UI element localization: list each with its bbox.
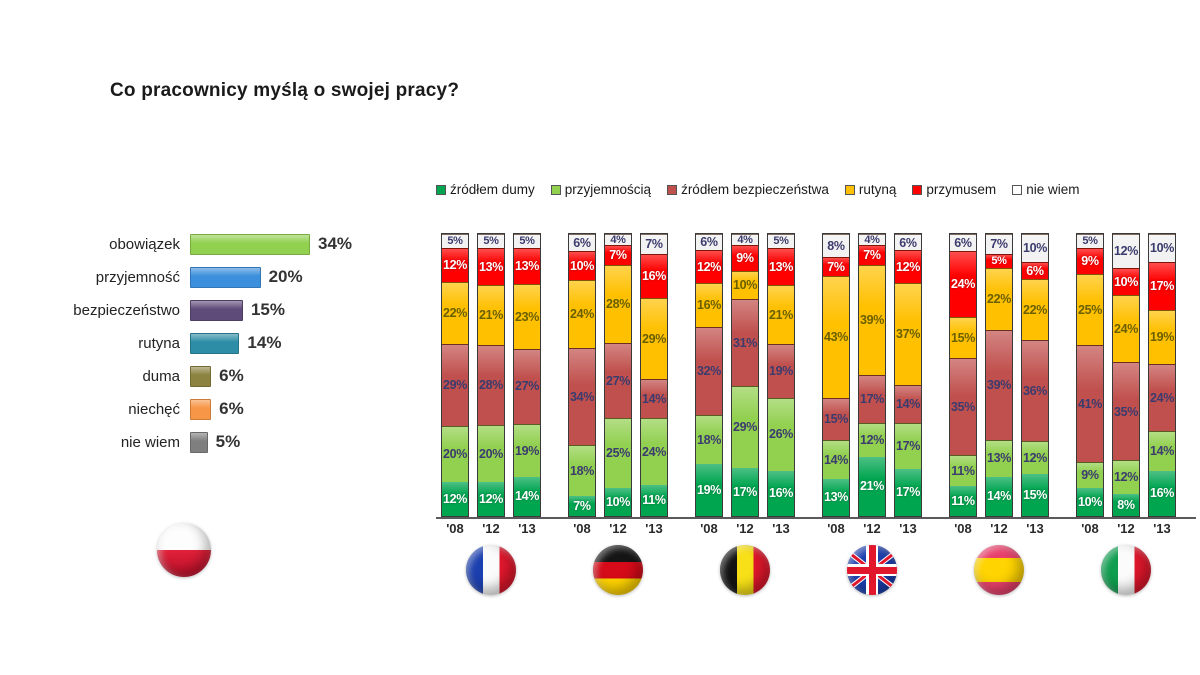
legend-swatch-icon xyxy=(912,185,922,195)
stack-segment: 10% xyxy=(569,251,595,279)
stack-segment: 9% xyxy=(732,245,758,270)
segment-value-label: 34% xyxy=(570,391,594,404)
stack-segment: 5% xyxy=(514,234,540,248)
legend-item[interactable]: przyjemnością xyxy=(551,182,651,197)
segment-value-label: 29% xyxy=(642,333,666,346)
stack-segment: 36% xyxy=(1022,340,1048,441)
segment-value-label: 7% xyxy=(827,261,844,274)
x-axis-tick-label: '12 xyxy=(604,521,632,541)
segment-value-label: 12% xyxy=(860,434,884,447)
segment-value-label: 6% xyxy=(573,237,590,250)
legend-item[interactable]: nie wiem xyxy=(1012,182,1079,197)
segment-value-label: 25% xyxy=(1078,304,1102,317)
stack-segment: 25% xyxy=(1077,274,1103,345)
stacked-bar[interactable]: 10%25%27%28%7%4% xyxy=(604,233,632,517)
stack-segment: 16% xyxy=(696,283,722,327)
poland-flag-icon xyxy=(157,523,211,577)
segment-value-label: 14% xyxy=(1150,445,1174,458)
segment-value-label: 5% xyxy=(773,236,788,247)
stack-segment: 17% xyxy=(895,423,921,470)
left-chart-bar xyxy=(190,399,211,420)
segment-value-label: 27% xyxy=(515,380,539,393)
segment-value-label: 19% xyxy=(697,484,721,497)
country-group: 11%11%35%15%24%6%14%13%39%22%5%7%15%12%3… xyxy=(944,233,1054,517)
legend-item-label: przymusem xyxy=(926,182,996,197)
legend-item[interactable]: przymusem xyxy=(912,182,996,197)
legend-item-label: źródłem dumy xyxy=(450,182,535,197)
legend-swatch-icon xyxy=(436,185,446,195)
stacked-bar[interactable]: 17%17%14%37%12%6% xyxy=(894,233,922,517)
stack-segment: 9% xyxy=(1077,462,1103,488)
left-chart-row-label: rutyna xyxy=(40,335,190,352)
stack-segment: 24% xyxy=(569,280,595,348)
stack-segment: 13% xyxy=(514,248,540,284)
x-axis-line xyxy=(436,517,1196,519)
segment-value-label: 17% xyxy=(733,486,757,499)
stack-segment: 7% xyxy=(823,257,849,277)
x-axis-tick-label: '08 xyxy=(822,521,850,541)
segment-value-label: 17% xyxy=(860,393,884,406)
stack-segment: 11% xyxy=(950,455,976,485)
stack-segment: 27% xyxy=(605,343,631,418)
segment-value-label: 12% xyxy=(697,261,721,274)
stack-segment: 12% xyxy=(1113,234,1139,268)
segment-value-label: 24% xyxy=(951,278,975,291)
segment-value-label: 26% xyxy=(769,428,793,441)
segment-value-label: 16% xyxy=(642,270,666,283)
stack-segment: 16% xyxy=(768,471,794,516)
legend-swatch-icon xyxy=(667,185,677,195)
spain-flag-icon xyxy=(974,545,1024,595)
legend-swatch-icon xyxy=(1012,185,1022,195)
left-chart-row: niechęć6% xyxy=(40,393,400,425)
stack-segment: 5% xyxy=(768,234,794,248)
legend-swatch-icon xyxy=(551,185,561,195)
legend-item-label: rutyną xyxy=(859,182,897,197)
segment-value-label: 13% xyxy=(479,261,503,274)
stack-segment: 34% xyxy=(569,348,595,445)
stack-segment: 7% xyxy=(605,245,631,265)
segment-value-label: 7% xyxy=(645,238,662,251)
x-axis-tick-label: '12 xyxy=(477,521,505,541)
left-chart-row-label: niechęć xyxy=(40,401,190,418)
stacked-bar[interactable]: 19%18%32%16%12%6% xyxy=(695,233,723,517)
segment-value-label: 10% xyxy=(1023,242,1047,255)
segment-value-label: 23% xyxy=(515,311,539,324)
left-chart-row: rutyna14% xyxy=(40,327,400,359)
stack-segment: 11% xyxy=(950,486,976,516)
stacked-bar[interactable]: 16%26%19%21%13%5% xyxy=(767,233,795,517)
stack-segment: 8% xyxy=(823,234,849,257)
left-chart-value: 6% xyxy=(219,366,244,386)
segment-value-label: 39% xyxy=(860,314,884,327)
segment-value-label: 6% xyxy=(700,236,717,249)
stack-segment: 18% xyxy=(696,415,722,464)
segment-value-label: 21% xyxy=(479,309,503,322)
stack-segment: 17% xyxy=(1149,262,1175,310)
stack-segment: 10% xyxy=(1113,268,1139,296)
segment-value-label: 24% xyxy=(642,446,666,459)
stack-segment: 13% xyxy=(768,248,794,285)
stack-segment: 11% xyxy=(641,485,667,516)
stack-segment: 10% xyxy=(605,488,631,516)
segment-value-label: 12% xyxy=(479,493,503,506)
segment-value-label: 43% xyxy=(824,331,848,344)
stack-segment: 12% xyxy=(895,250,921,283)
stacked-bar[interactable]: 14%13%39%22%5%7% xyxy=(985,233,1013,517)
x-axis-tick-label: '08 xyxy=(441,521,469,541)
stack-segment: 10% xyxy=(732,271,758,299)
left-chart-value: 6% xyxy=(219,399,244,419)
segment-value-label: 36% xyxy=(1023,385,1047,398)
segment-value-label: 19% xyxy=(515,445,539,458)
stack-segment: 14% xyxy=(1149,431,1175,470)
stack-segment: 14% xyxy=(514,477,540,516)
left-chart-value: 5% xyxy=(216,432,241,452)
x-axis-tick-label: '13 xyxy=(1021,521,1049,541)
segment-value-label: 22% xyxy=(1023,304,1047,317)
stacked-bar[interactable]: 21%12%17%39%7%4% xyxy=(858,233,886,517)
segment-value-label: 17% xyxy=(1150,280,1174,293)
segment-value-label: 24% xyxy=(570,308,594,321)
stack-segment: 20% xyxy=(442,426,468,482)
stacked-bar[interactable]: 7%18%34%24%10%6% xyxy=(568,233,596,517)
left-chart-row-label: przyjemność xyxy=(40,269,190,286)
stack-segment: 28% xyxy=(605,265,631,343)
stack-segment: 14% xyxy=(641,379,667,418)
stack-segment: 26% xyxy=(768,398,794,471)
country-group: 12%20%29%22%12%5%12%20%28%21%13%5%14%19%… xyxy=(436,233,546,517)
stack-segment: 20% xyxy=(478,425,504,482)
legend-swatch-icon xyxy=(845,185,855,195)
segment-value-label: 14% xyxy=(515,490,539,503)
stack-segment: 29% xyxy=(641,298,667,379)
segment-value-label: 28% xyxy=(606,298,630,311)
stack-segment: 19% xyxy=(514,424,540,477)
segment-value-label: 27% xyxy=(606,375,630,388)
stack-segment: 21% xyxy=(478,285,504,345)
segment-value-label: 32% xyxy=(697,365,721,378)
stack-segment: 16% xyxy=(641,254,667,299)
stacked-bar-chart: 12%20%29%22%12%5%12%20%28%21%13%5%14%19%… xyxy=(436,233,1196,578)
segment-value-label: 15% xyxy=(824,413,848,426)
stack-segment: 43% xyxy=(823,276,849,397)
x-axis-year-labels: '08'12'13 xyxy=(690,521,800,541)
stacked-bar[interactable]: 8%12%35%24%10%12% xyxy=(1112,233,1140,517)
stack-segment: 14% xyxy=(986,477,1012,516)
left-chart-bar-wrap: 15% xyxy=(190,300,285,321)
stack-segment: 5% xyxy=(986,254,1012,268)
stack-segment: 8% xyxy=(1113,494,1139,516)
stack-segment: 7% xyxy=(569,496,595,516)
legend-item[interactable]: źródłem dumy xyxy=(436,182,535,197)
page-title: Co pracownicy myślą o swojej pracy? xyxy=(110,80,459,102)
stacked-bar[interactable]: 17%29%31%10%9%4% xyxy=(731,233,759,517)
x-axis-tick-label: '13 xyxy=(513,521,541,541)
x-axis-tick-label: '12 xyxy=(985,521,1013,541)
stacked-bar[interactable]: 16%14%24%19%17%10% xyxy=(1148,233,1176,517)
segment-value-label: 29% xyxy=(443,379,467,392)
left-chart-bar xyxy=(190,267,261,288)
stack-segment: 14% xyxy=(895,385,921,423)
x-axis-tick-label: '12 xyxy=(858,521,886,541)
legend-item[interactable]: źródłem bezpieczeństwa xyxy=(667,182,829,197)
stack-segment: 12% xyxy=(1113,460,1139,494)
stack-segment: 41% xyxy=(1077,345,1103,462)
stack-segment: 15% xyxy=(823,398,849,440)
segment-value-label: 8% xyxy=(827,240,844,253)
segment-value-label: 4% xyxy=(864,235,879,246)
x-axis-tick-label: '12 xyxy=(731,521,759,541)
stacked-bar[interactable]: 12%20%28%21%13%5% xyxy=(477,233,505,517)
segment-value-label: 5% xyxy=(447,236,462,247)
left-chart-row: duma6% xyxy=(40,360,400,392)
segment-value-label: 19% xyxy=(1150,331,1174,344)
x-axis-tick-label: '13 xyxy=(640,521,668,541)
stacked-bar[interactable]: 12%20%29%22%12%5% xyxy=(441,233,469,517)
stack-segment: 12% xyxy=(696,250,722,283)
segment-value-label: 7% xyxy=(573,500,590,513)
left-chart-bar xyxy=(190,300,243,321)
stack-segment: 10% xyxy=(1077,488,1103,516)
left-chart-value: 15% xyxy=(251,300,285,320)
x-axis-tick-label: '13 xyxy=(767,521,795,541)
segment-value-label: 29% xyxy=(733,421,757,434)
left-chart-value: 20% xyxy=(269,267,303,287)
left-chart-row-label: duma xyxy=(40,368,190,385)
stack-segment: 7% xyxy=(986,234,1012,254)
stack-segment: 4% xyxy=(732,234,758,245)
stack-segment: 12% xyxy=(478,482,504,516)
stack-segment: 6% xyxy=(1022,262,1048,279)
stack-segment: 35% xyxy=(950,358,976,455)
x-axis-year-labels: '08'12'13 xyxy=(436,521,546,541)
stack-segment: 29% xyxy=(732,386,758,468)
stack-segment: 19% xyxy=(768,344,794,398)
stacked-bar[interactable]: 14%19%27%23%13%5% xyxy=(513,233,541,517)
x-axis-tick-label: '08 xyxy=(949,521,977,541)
segment-value-label: 15% xyxy=(951,332,975,345)
stack-segment: 24% xyxy=(1149,364,1175,432)
left-chart-bar xyxy=(190,432,208,453)
left-chart-bar xyxy=(190,366,211,387)
stack-segment: 24% xyxy=(641,418,667,485)
x-axis-year-labels: '08'12'13 xyxy=(817,521,927,541)
country-group: 13%14%15%43%7%8%21%12%17%39%7%4%17%17%14… xyxy=(817,233,927,517)
left-chart-bar xyxy=(190,234,310,255)
left-chart-row: nie wiem5% xyxy=(40,426,400,458)
left-chart-row-label: bezpieczeństwo xyxy=(40,302,190,319)
chart-plot-area: 12%20%29%22%12%5%12%20%28%21%13%5%14%19%… xyxy=(436,233,1196,517)
stack-segment: 6% xyxy=(569,234,595,251)
stacked-bar[interactable]: 11%24%14%29%16%7% xyxy=(640,233,668,517)
segment-value-label: 6% xyxy=(954,237,971,250)
left-chart-row-label: nie wiem xyxy=(40,434,190,451)
segment-value-label: 14% xyxy=(642,393,666,406)
segment-value-label: 5% xyxy=(1082,236,1097,247)
france-flag-icon xyxy=(466,545,516,595)
stack-segment: 39% xyxy=(986,330,1012,440)
x-axis-year-labels: '08'12'13 xyxy=(563,521,673,541)
left-chart-bar-wrap: 6% xyxy=(190,366,244,387)
left-chart-bar xyxy=(190,333,239,354)
segment-value-label: 14% xyxy=(896,398,920,411)
stack-segment: 12% xyxy=(859,423,885,457)
stack-segment: 19% xyxy=(696,464,722,516)
italy-flag-icon xyxy=(1101,545,1151,595)
stack-segment: 10% xyxy=(1149,234,1175,262)
segment-value-label: 9% xyxy=(736,252,753,265)
segment-value-label: 12% xyxy=(1114,245,1138,258)
stack-segment: 22% xyxy=(986,268,1012,330)
stack-segment: 5% xyxy=(478,234,504,248)
segment-value-label: 9% xyxy=(1081,255,1098,268)
segment-value-label: 11% xyxy=(642,494,665,507)
stack-segment: 23% xyxy=(514,284,540,348)
country-group: 19%18%32%16%12%6%17%29%31%10%9%4%16%26%1… xyxy=(690,233,800,517)
stack-segment: 9% xyxy=(1077,248,1103,274)
stacked-bar[interactable]: 15%12%36%22%6%10% xyxy=(1021,233,1049,517)
stacked-bar[interactable]: 11%11%35%15%24%6% xyxy=(949,233,977,517)
left-chart-bar-wrap: 6% xyxy=(190,399,244,420)
legend-item-label: źródłem bezpieczeństwa xyxy=(681,182,829,197)
segment-value-label: 11% xyxy=(951,465,974,478)
stack-segment: 13% xyxy=(986,440,1012,477)
segment-value-label: 4% xyxy=(610,235,625,246)
segment-value-label: 14% xyxy=(987,490,1011,503)
chart-legend: źródłem dumyprzyjemnościąźródłem bezpiec… xyxy=(436,182,1079,197)
segment-value-label: 21% xyxy=(769,309,793,322)
germany-flag-icon xyxy=(593,545,643,595)
stack-segment: 12% xyxy=(1022,441,1048,475)
stack-segment: 4% xyxy=(605,234,631,245)
segment-value-label: 17% xyxy=(896,486,920,499)
segment-value-label: 10% xyxy=(1114,276,1138,289)
segment-value-label: 6% xyxy=(899,237,916,250)
stack-segment: 35% xyxy=(1113,362,1139,460)
stack-segment: 6% xyxy=(895,234,921,250)
segment-value-label: 12% xyxy=(443,493,467,506)
stack-segment: 7% xyxy=(641,234,667,254)
left-chart-bar-wrap: 20% xyxy=(190,267,303,288)
left-bar-chart: obowiązek34%przyjemność20%bezpieczeństwo… xyxy=(40,228,400,459)
segment-value-label: 9% xyxy=(1081,469,1098,482)
stack-segment: 25% xyxy=(605,418,631,488)
segment-value-label: 7% xyxy=(863,249,880,262)
stack-segment: 18% xyxy=(569,445,595,496)
uk-flag-icon xyxy=(847,545,897,595)
stack-segment: 17% xyxy=(732,468,758,516)
segment-value-label: 12% xyxy=(1114,471,1138,484)
x-axis-tick-label: '13 xyxy=(1148,521,1176,541)
segment-value-label: 10% xyxy=(570,260,594,273)
segment-value-label: 35% xyxy=(951,401,975,414)
segment-value-label: 19% xyxy=(769,365,793,378)
segment-value-label: 5% xyxy=(483,236,498,247)
stack-segment: 27% xyxy=(514,349,540,424)
stacked-bar[interactable]: 10%9%41%25%9%5% xyxy=(1076,233,1104,517)
segment-value-label: 18% xyxy=(570,465,594,478)
stack-segment: 5% xyxy=(442,234,468,248)
x-axis-tick-label: '08 xyxy=(695,521,723,541)
stack-segment: 7% xyxy=(859,245,885,265)
segment-value-label: 28% xyxy=(479,379,503,392)
x-axis-tick-label: '08 xyxy=(568,521,596,541)
segment-value-label: 20% xyxy=(443,448,467,461)
x-axis-year-labels: '08'12'13 xyxy=(1071,521,1181,541)
segment-value-label: 20% xyxy=(479,448,503,461)
stack-segment: 24% xyxy=(1113,295,1139,362)
segment-value-label: 22% xyxy=(443,307,467,320)
segment-value-label: 39% xyxy=(987,379,1011,392)
segment-value-label: 7% xyxy=(609,249,626,262)
segment-value-label: 7% xyxy=(990,238,1007,251)
x-axis-tick-label: '12 xyxy=(1112,521,1140,541)
stack-segment: 21% xyxy=(859,457,885,516)
segment-value-label: 10% xyxy=(733,279,757,292)
segment-value-label: 16% xyxy=(1150,487,1174,500)
segment-value-label: 22% xyxy=(987,293,1011,306)
segment-value-label: 11% xyxy=(951,495,974,508)
segment-value-label: 25% xyxy=(606,447,630,460)
stack-segment: 16% xyxy=(1149,471,1175,516)
stack-segment: 28% xyxy=(478,345,504,425)
segment-value-label: 21% xyxy=(860,480,884,493)
segment-value-label: 16% xyxy=(769,487,793,500)
stack-segment: 6% xyxy=(950,234,976,251)
stack-segment: 4% xyxy=(859,234,885,245)
stack-segment: 17% xyxy=(859,375,885,423)
stack-segment: 29% xyxy=(442,344,468,426)
stack-segment: 15% xyxy=(1022,474,1048,516)
legend-item[interactable]: rutyną xyxy=(845,182,897,197)
stack-segment: 17% xyxy=(895,469,921,516)
segment-value-label: 24% xyxy=(1114,323,1138,336)
segment-value-label: 4% xyxy=(737,235,752,246)
left-chart-row: bezpieczeństwo15% xyxy=(40,294,400,326)
country-group: 10%9%41%25%9%5%8%12%35%24%10%12%16%14%24… xyxy=(1071,233,1181,517)
stack-segment: 15% xyxy=(950,317,976,358)
segment-value-label: 10% xyxy=(1078,496,1102,509)
legend-item-label: nie wiem xyxy=(1026,182,1079,197)
stack-segment: 21% xyxy=(768,285,794,344)
segment-value-label: 13% xyxy=(824,491,848,504)
segment-value-label: 35% xyxy=(1114,406,1138,419)
stack-segment: 39% xyxy=(859,265,885,375)
left-chart-bar-wrap: 5% xyxy=(190,432,240,453)
stack-segment: 37% xyxy=(895,283,921,384)
stack-segment: 13% xyxy=(478,248,504,285)
x-axis-year-labels: '08'12'13 xyxy=(944,521,1054,541)
segment-value-label: 5% xyxy=(991,256,1006,267)
stack-segment: 19% xyxy=(1149,310,1175,364)
stack-segment: 12% xyxy=(442,248,468,282)
stack-segment: 13% xyxy=(823,479,849,516)
stack-segment: 32% xyxy=(696,327,722,415)
segment-value-label: 41% xyxy=(1078,398,1102,411)
stack-segment: 22% xyxy=(1022,279,1048,340)
segment-value-label: 6% xyxy=(1026,265,1043,278)
segment-value-label: 10% xyxy=(1150,242,1174,255)
stacked-bar[interactable]: 13%14%15%43%7%8% xyxy=(822,233,850,517)
stack-segment: 10% xyxy=(1022,234,1048,262)
segment-value-label: 16% xyxy=(697,299,721,312)
stack-segment: 22% xyxy=(442,282,468,344)
segment-value-label: 5% xyxy=(519,236,534,247)
left-chart-value: 34% xyxy=(318,234,352,254)
stack-segment: 12% xyxy=(442,482,468,516)
segment-value-label: 12% xyxy=(1023,452,1047,465)
